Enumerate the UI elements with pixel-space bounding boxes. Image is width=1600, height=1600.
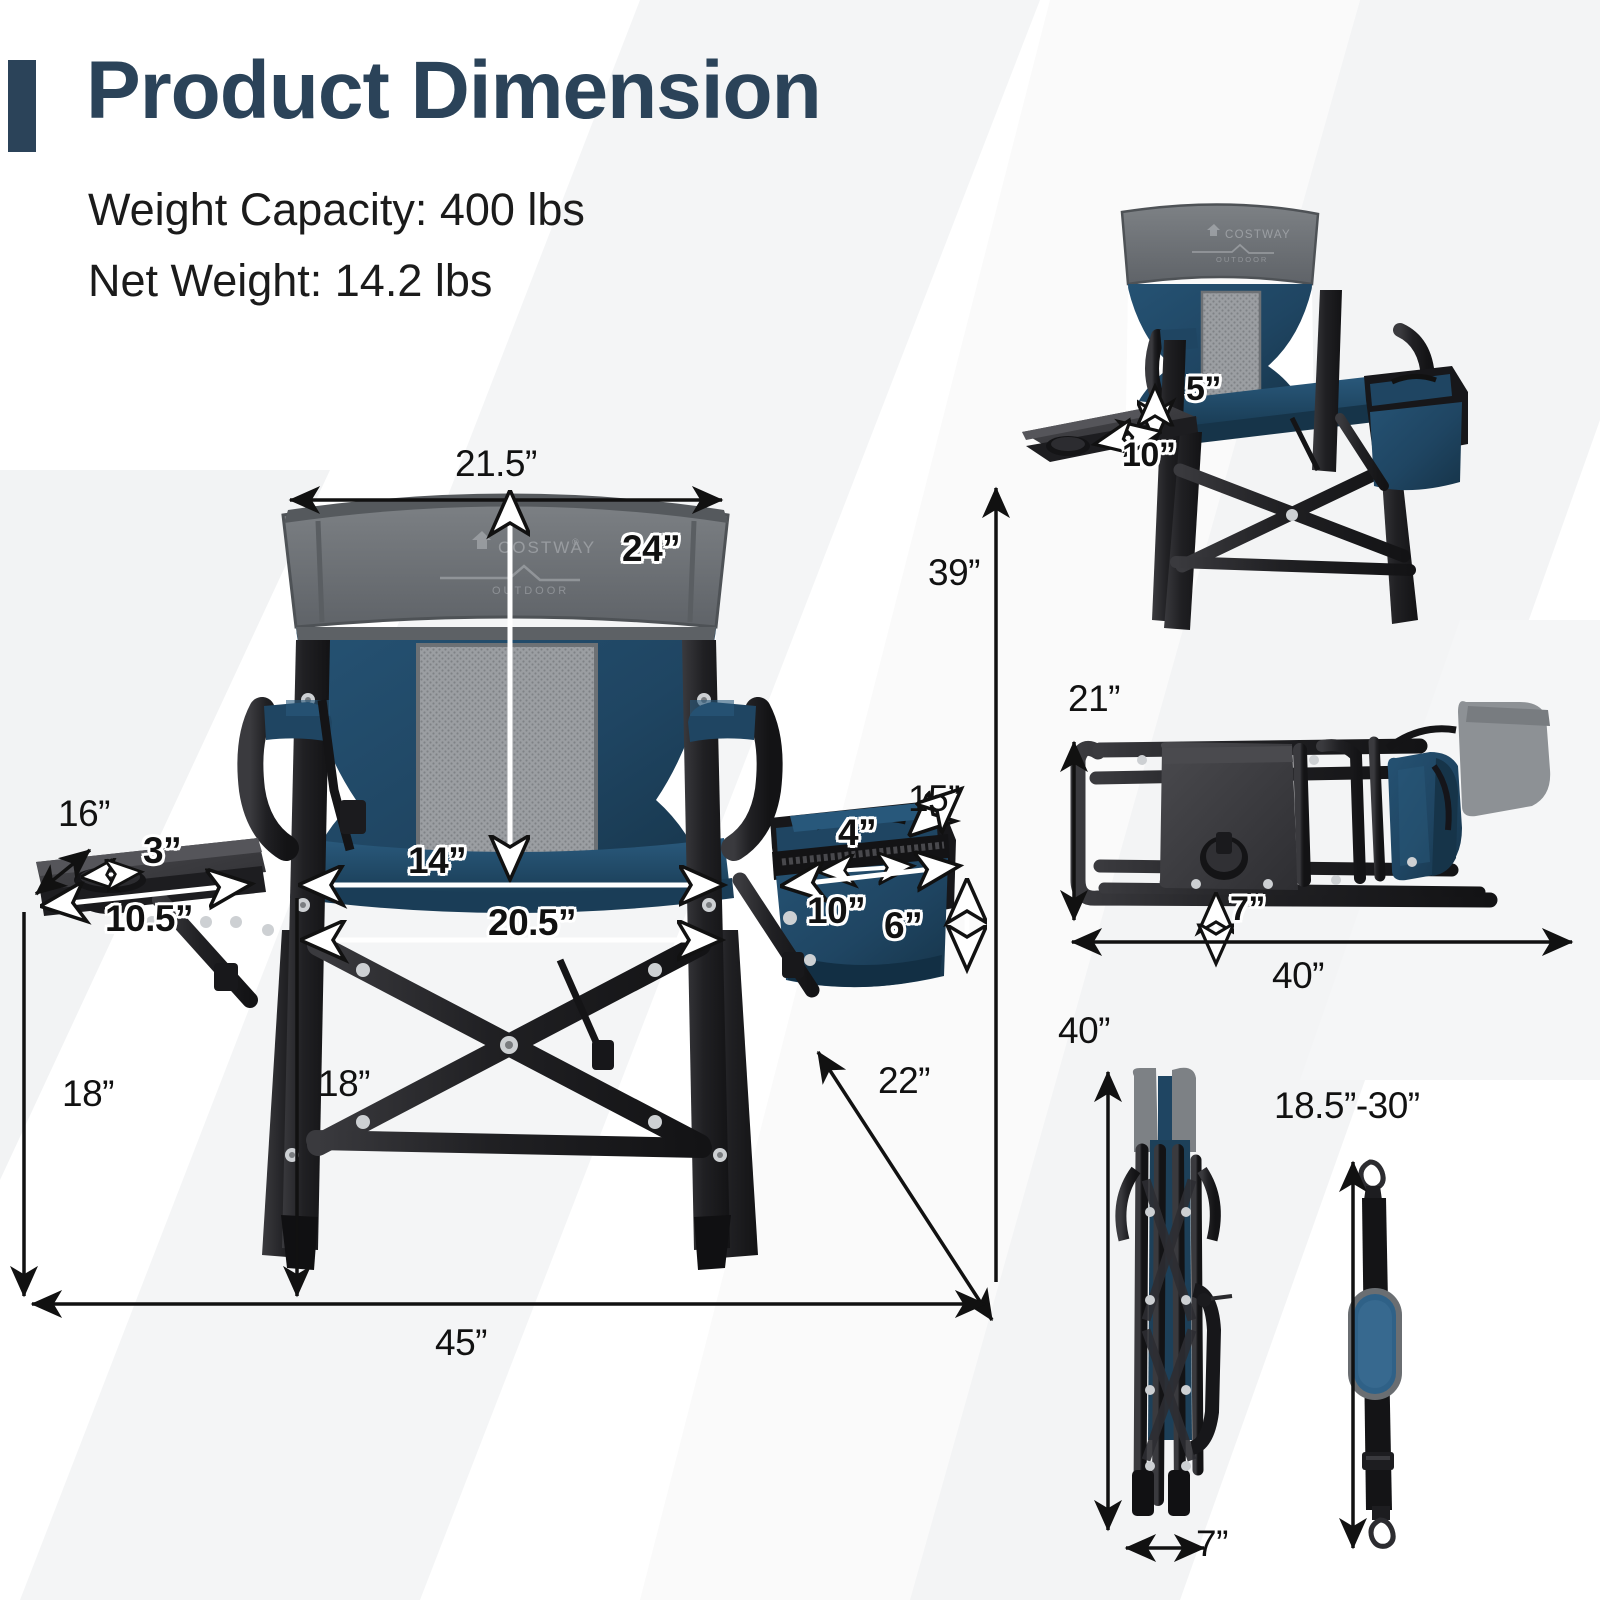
dim-table-height: 18” bbox=[62, 1073, 114, 1115]
dim-side-table-width: 10” bbox=[1122, 436, 1175, 475]
dim-overall-width: 45” bbox=[435, 1322, 487, 1364]
header-accent-bar bbox=[8, 60, 36, 152]
spec-net-weight: Net Weight: 14.2 lbs bbox=[88, 255, 492, 307]
dim-folded-thickness: 7” bbox=[1230, 890, 1265, 929]
page-title: Product Dimension bbox=[86, 48, 821, 134]
dim-cooler-height: 6” bbox=[884, 905, 922, 947]
dim-cooler-depth: 15” bbox=[908, 778, 960, 820]
dim-upright-width: 7” bbox=[1196, 1523, 1228, 1565]
dim-armrest-gap: 5” bbox=[1186, 370, 1221, 409]
dim-overall-depth: 22” bbox=[878, 1060, 930, 1102]
dim-overall-height: 39” bbox=[928, 552, 980, 594]
dim-backrest-width: 21.5” bbox=[455, 443, 537, 485]
dim-cooler-width: 10” bbox=[807, 890, 865, 932]
dim-folded-length: 40” bbox=[1272, 955, 1324, 997]
dim-upright-height: 40” bbox=[1058, 1010, 1110, 1052]
dim-seat-back-height: 14” bbox=[408, 840, 466, 882]
dim-backrest-height: 24” bbox=[622, 528, 680, 570]
dim-strap-length: 18.5”-30” bbox=[1274, 1085, 1420, 1127]
dim-seat-height: 18” bbox=[318, 1063, 370, 1105]
dim-cooler-handle: 4” bbox=[838, 812, 876, 854]
dimension-arrows bbox=[0, 0, 1600, 1600]
dim-table-width: 10.5” bbox=[105, 898, 193, 940]
spec-weight-capacity: Weight Capacity: 400 lbs bbox=[88, 184, 585, 236]
dim-folded-height: 21” bbox=[1068, 678, 1120, 720]
dim-seat-width: 20.5” bbox=[488, 902, 576, 944]
dim-table-depth: 16” bbox=[58, 793, 110, 835]
dim-cupholder-diameter: 3” bbox=[143, 830, 181, 872]
